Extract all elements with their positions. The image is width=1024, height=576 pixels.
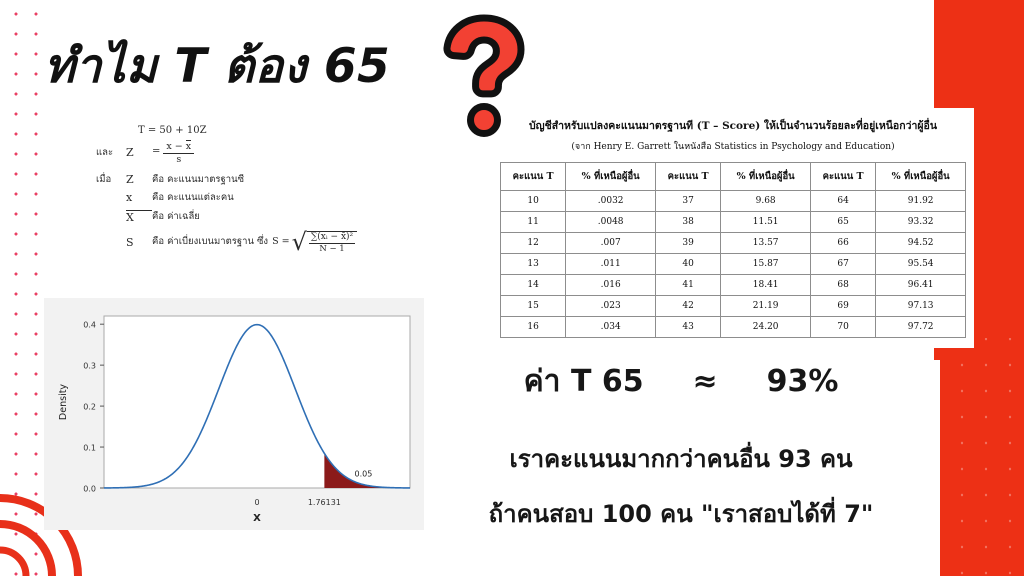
table-cell-2: 38 <box>655 212 720 233</box>
table-cell-4: 68 <box>810 275 875 296</box>
table-cell-3: 21.19 <box>721 296 811 317</box>
table-header-cell-3: % ที่เหนือผู้อื่น <box>721 163 811 191</box>
x-axis-label: X <box>253 513 261 524</box>
conclusion-line-3: ถ้าคนสอบ 100 คน "เราสอบได้ที่ 7" <box>446 494 916 533</box>
table-cell-2: 43 <box>655 317 720 338</box>
table-cell-0: 16 <box>501 317 566 338</box>
table-row: 14.0164118.416896.41 <box>501 275 966 296</box>
table-row: 12.0073913.576694.52 <box>501 233 966 254</box>
conclusion-line-2: เราคะแนนมากกว่าคนอื่น 93 คน <box>446 439 916 478</box>
table-cell-1: .034 <box>566 317 656 338</box>
table-cell-1: .011 <box>566 254 656 275</box>
table-cell-0: 15 <box>501 296 566 317</box>
formula-z-numer-x: x <box>166 141 171 152</box>
formula-z-symbol: Z <box>126 147 152 158</box>
table-row: 16.0344324.207097.72 <box>501 317 966 338</box>
y-tick-label-0: 0.0 <box>83 485 96 494</box>
table-cell-5: 96.41 <box>876 275 966 296</box>
table-cell-4: 66 <box>810 233 875 254</box>
formula-t-line: T = 50 + 10Z <box>138 126 207 136</box>
formula-minus: − <box>175 141 186 152</box>
y-tick-label-4: 0.4 <box>83 321 96 330</box>
table-cell-2: 37 <box>655 191 720 212</box>
formula-z-numer-xbar: x <box>186 140 191 152</box>
table-cell-0: 14 <box>501 275 566 296</box>
formula-s-sqrt: √ ∑(xᵢ − x̄)² N − 1 <box>292 231 358 254</box>
table-cell-0: 11 <box>501 212 566 233</box>
formula-label-and: และ <box>96 148 126 158</box>
formula-label-when: เมื่อ <box>96 175 126 185</box>
density-chart: 0.00.10.20.30.4Density01.76131X0.05 <box>44 298 424 530</box>
table-cell-1: .007 <box>566 233 656 254</box>
table-cell-4: 65 <box>810 212 875 233</box>
table-cell-3: 24.20 <box>721 317 811 338</box>
table-cell-2: 39 <box>655 233 720 254</box>
formula-def-text-2: คือ ค่าเฉลี่ย <box>152 212 200 222</box>
conclusion-line-1: ค่า T 65 ≈ 93% <box>446 358 916 405</box>
formula-def-symbol-3: S <box>126 237 152 248</box>
decorative-red-block-bottom-right <box>940 338 1024 576</box>
conclusion-approx-icon: ≈ <box>693 364 718 399</box>
x-tick-label-0: 0 <box>254 498 259 507</box>
formula-s-denom: N − 1 <box>319 244 344 254</box>
table-title: บัญชีสำหรับแปลงคะแนนมาตรฐานที (T – Score… <box>500 120 966 133</box>
formula-def-symbol-1: x <box>126 192 152 203</box>
table-header-cell-4: คะแนน T <box>810 163 875 191</box>
formula-def-text-0: คือ คะแนนมาตรฐานซี <box>152 175 244 185</box>
question-mark-icon <box>438 12 530 140</box>
table-cell-4: 70 <box>810 317 875 338</box>
formula-def-symbol-0: Z <box>126 174 152 185</box>
table-row: 11.00483811.516593.32 <box>501 212 966 233</box>
table-cell-4: 69 <box>810 296 875 317</box>
table-cell-2: 41 <box>655 275 720 296</box>
table-cell-3: 11.51 <box>721 212 811 233</box>
formula-def-symbol-2: X <box>126 210 152 223</box>
table-cell-1: .016 <box>566 275 656 296</box>
table-cell-0: 12 <box>501 233 566 254</box>
table-header-cell-2: คะแนน T <box>655 163 720 191</box>
y-tick-label-3: 0.3 <box>83 362 96 371</box>
table-cell-1: .023 <box>566 296 656 317</box>
formula-def-text-1: คือ คะแนนแต่ละคน <box>152 193 234 203</box>
table-cell-1: .0048 <box>566 212 656 233</box>
formula-def-text-3: คือ ค่าเบี่ยงเบนมาตรฐาน ซึ่ง <box>152 237 268 247</box>
table-cell-5: 97.13 <box>876 296 966 317</box>
formula-equals: = <box>152 147 160 157</box>
table-cell-3: 9.68 <box>721 191 811 212</box>
table-header-row: คะแนน T% ที่เหนือผู้อื่นคะแนน T% ที่เหนื… <box>501 163 966 191</box>
formula-s-numer: ∑(xᵢ − x̄)² <box>309 233 355 244</box>
table-cell-1: .0032 <box>566 191 656 212</box>
decorative-dots-bottom-right <box>940 338 1024 576</box>
table-row: 15.0234221.196997.13 <box>501 296 966 317</box>
table-cell-2: 42 <box>655 296 720 317</box>
y-axis-label: Density <box>58 384 69 420</box>
table-header-cell-5: % ที่เหนือผู้อื่น <box>876 163 966 191</box>
table-header-cell-1: % ที่เหนือผู้อื่น <box>566 163 656 191</box>
y-tick-label-2: 0.2 <box>83 403 96 412</box>
score-table-card: บัญชีสำหรับแปลงคะแนนมาตรฐานที (T – Score… <box>492 108 974 348</box>
table-cell-5: 91.92 <box>876 191 966 212</box>
y-tick-label-1: 0.1 <box>83 444 96 453</box>
slide-canvas: ทำไม T ต้อง 65 T = 50 + 10Z และ Z = x − … <box>0 0 1024 576</box>
table-cell-3: 18.41 <box>721 275 811 296</box>
table-cell-0: 13 <box>501 254 566 275</box>
table-cell-4: 64 <box>810 191 875 212</box>
table-cell-5: 94.52 <box>876 233 966 254</box>
x-tick-label-1: 1.76131 <box>308 498 341 507</box>
table-row: 13.0114015.876795.54 <box>501 254 966 275</box>
plot-area <box>104 316 410 488</box>
conclusion-t-value: ค่า T 65 <box>524 364 644 399</box>
table-header-cell-0: คะแนน T <box>501 163 566 191</box>
table-cell-3: 15.87 <box>721 254 811 275</box>
table-cell-5: 97.72 <box>876 317 966 338</box>
formula-block: T = 50 + 10Z และ Z = x − x s เมื่อ Z คือ… <box>96 126 357 260</box>
table-subtitle: (จาก Henry E. Garrett ในหนังสือ Statisti… <box>500 139 966 153</box>
conclusion-percent: 93% <box>767 364 839 399</box>
table-row: 10.0032379.686491.92 <box>501 191 966 212</box>
table-cell-4: 67 <box>810 254 875 275</box>
table-cell-3: 13.57 <box>721 233 811 254</box>
table-cell-0: 10 <box>501 191 566 212</box>
shaded-area-label: 0.05 <box>355 470 373 479</box>
table-cell-2: 40 <box>655 254 720 275</box>
page-title: ทำไม T ต้อง 65 <box>44 28 390 103</box>
t-score-table: คะแนน T% ที่เหนือผู้อื่นคะแนน T% ที่เหนื… <box>500 162 966 338</box>
formula-z-denom: s <box>176 154 181 165</box>
table-cell-5: 95.54 <box>876 254 966 275</box>
conclusion-block: ค่า T 65 ≈ 93% เราคะแนนมากกว่าคนอื่น 93 … <box>446 358 916 533</box>
table-cell-5: 93.32 <box>876 212 966 233</box>
formula-s-equals: S = <box>272 237 290 247</box>
formula-z-fraction: x − x s <box>163 140 194 165</box>
radical-icon: √ <box>292 231 307 254</box>
